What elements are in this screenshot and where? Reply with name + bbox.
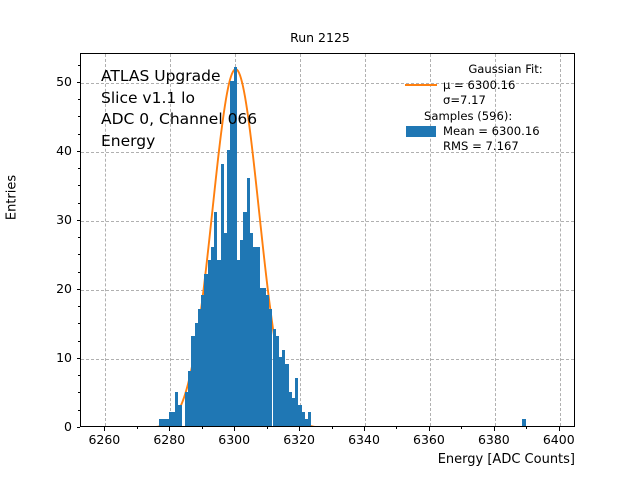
y-axis-minor-tick xyxy=(78,65,80,66)
y-axis-minor-tick xyxy=(78,185,80,186)
x-axis-label: Energy [ADC Counts] xyxy=(80,452,575,467)
y-axis-tick xyxy=(77,220,81,221)
page-title: Run 2125 xyxy=(0,30,640,45)
y-axis-tick xyxy=(77,358,81,359)
y-axis-minor-tick xyxy=(78,272,80,273)
y-axis-tick-label: 50 xyxy=(27,74,72,89)
y-axis-tick-label: 30 xyxy=(27,212,72,227)
y-axis-minor-tick xyxy=(78,306,80,307)
y-axis-minor-tick xyxy=(78,392,80,393)
x-axis-tick xyxy=(429,427,430,431)
y-axis-minor-tick xyxy=(78,237,80,238)
legend-patch-swatch-icon xyxy=(404,123,438,139)
y-axis-tick xyxy=(77,82,81,83)
x-axis-minor-tick xyxy=(332,427,333,429)
legend-entry-fit: μ = 6300.16 xyxy=(404,77,579,93)
legend-fit-title: Gaussian Fit: xyxy=(404,62,579,76)
x-axis-tick xyxy=(104,427,105,431)
chart-legend: Gaussian Fit: μ = 6300.16 σ=7.17 Samples… xyxy=(404,62,579,153)
y-axis-minor-tick xyxy=(78,375,80,376)
y-axis-minor-tick xyxy=(78,410,80,411)
x-axis-minor-tick xyxy=(202,427,203,429)
y-axis-tick xyxy=(77,151,81,152)
x-axis-tick xyxy=(494,427,495,431)
y-axis-tick xyxy=(77,427,81,428)
annotation-line-1: ATLAS Upgrade xyxy=(101,67,221,85)
histogram-bar xyxy=(178,405,181,426)
y-axis-tick-label: 20 xyxy=(27,281,72,296)
legend-samples-mean: Mean = 6300.16 xyxy=(438,124,540,138)
annotation-line-2: Slice v1.1 lo xyxy=(101,89,195,107)
x-axis-tick xyxy=(299,427,300,431)
y-axis-tick-label: 40 xyxy=(27,143,72,158)
chart-annotation: ATLAS Upgrade Slice v1.1 lo ADC 0, Chann… xyxy=(101,66,257,152)
histogram-bar xyxy=(522,419,525,426)
histogram-bar xyxy=(308,412,311,426)
x-axis-tick xyxy=(169,427,170,431)
y-axis-tick-label: 0 xyxy=(27,419,72,434)
legend-samples-rms: RMS = 7.167 xyxy=(404,139,579,153)
annotation-line-4: Energy xyxy=(101,132,155,150)
x-axis-tick-label: 6400 xyxy=(524,432,594,447)
x-axis-tick-label: 6300 xyxy=(199,432,269,447)
x-axis-minor-tick xyxy=(396,427,397,429)
annotation-line-3: ADC 0, Channel 066 xyxy=(101,110,257,128)
x-axis-tick xyxy=(234,427,235,431)
y-axis-minor-tick xyxy=(78,323,80,324)
y-axis-minor-tick xyxy=(78,116,80,117)
x-axis-tick xyxy=(559,427,560,431)
y-axis-minor-tick xyxy=(78,99,80,100)
x-axis-tick-label: 6280 xyxy=(134,432,204,447)
x-axis-tick xyxy=(364,427,365,431)
figure-canvas: Run 2125 6260628063006320634063606380640… xyxy=(0,0,640,480)
legend-samples-title: Samples (596): xyxy=(404,109,579,123)
y-axis-minor-tick xyxy=(78,254,80,255)
x-axis-tick-label: 6380 xyxy=(459,432,529,447)
x-axis-tick-label: 6360 xyxy=(394,432,464,447)
y-axis-label: Entries xyxy=(5,128,20,268)
y-axis-tick-label: 10 xyxy=(27,350,72,365)
y-axis-minor-tick xyxy=(78,341,80,342)
x-axis-minor-tick xyxy=(526,427,527,429)
x-axis-tick-label: 6340 xyxy=(329,432,399,447)
x-axis-minor-tick xyxy=(267,427,268,429)
y-axis-minor-tick xyxy=(78,168,80,169)
legend-line-swatch-icon xyxy=(404,77,438,93)
x-axis-minor-tick xyxy=(137,427,138,429)
x-axis-minor-tick xyxy=(461,427,462,429)
legend-entry-samples: Mean = 6300.16 xyxy=(404,123,579,139)
x-axis-tick-label: 6260 xyxy=(69,432,139,447)
y-axis-tick xyxy=(77,289,81,290)
x-axis-tick-label: 6320 xyxy=(264,432,334,447)
y-axis-minor-tick xyxy=(78,134,80,135)
legend-fit-sigma: σ=7.17 xyxy=(404,93,579,107)
legend-fit-mu: μ = 6300.16 xyxy=(438,78,515,92)
y-axis-minor-tick xyxy=(78,203,80,204)
